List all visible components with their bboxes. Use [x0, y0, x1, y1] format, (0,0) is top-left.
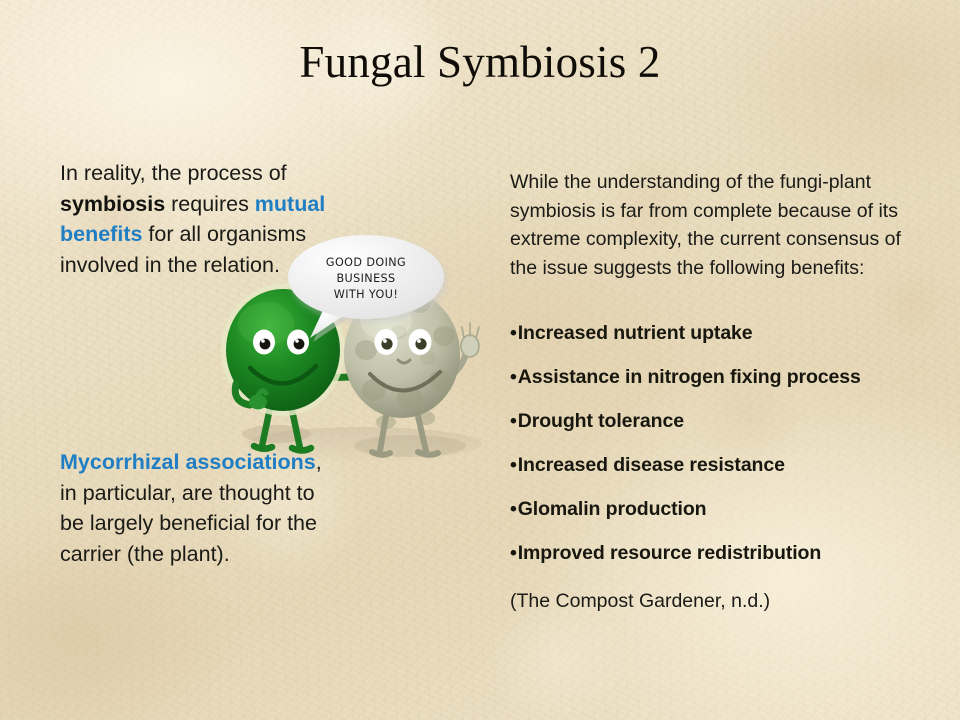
waving-hand-icon — [461, 323, 479, 357]
ground-shadow — [242, 425, 482, 461]
list-item-label: Drought tolerance — [518, 410, 684, 432]
left-paragraph-part1: In reality, the process of — [60, 161, 287, 185]
list-item: •Increased disease resistance — [510, 454, 940, 477]
list-item: •Drought tolerance — [510, 410, 940, 433]
bullet-icon: • — [510, 498, 517, 520]
bullet-icon: • — [510, 454, 517, 476]
bullet-icon: • — [510, 322, 517, 344]
list-item: •Improved resource redistribution — [510, 542, 940, 565]
list-item-label: Improved resource redistribution — [518, 542, 821, 564]
citation-text: (The Compost Gardener, n.d.) — [510, 588, 770, 616]
list-item-label: Increased disease resistance — [518, 454, 785, 476]
bullet-icon: • — [510, 366, 517, 388]
speech-bubble-line-3: WITH YOU! — [334, 288, 398, 301]
left-paragraph-bold-symbiosis: symbiosis — [60, 192, 165, 216]
slide-canvas: Fungal Symbiosis 2 In reality, the proce… — [0, 0, 960, 720]
bullet-icon: • — [510, 542, 517, 564]
list-item-label: Glomalin production — [518, 498, 707, 520]
list-item: •Glomalin production — [510, 498, 940, 521]
benefits-list: •Increased nutrient uptake •Assistance i… — [510, 322, 940, 586]
list-item-label: Increased nutrient uptake — [518, 322, 753, 344]
speech-bubble-line-2: BUSINESS — [336, 272, 395, 285]
list-item: •Increased nutrient uptake — [510, 322, 940, 345]
right-paragraph: While the understanding of the fungi-pla… — [510, 168, 908, 283]
algae-and-fungus-illustration: GOOD DOING BUSINESS WITH YOU! — [214, 232, 496, 488]
speech-bubble-line-1: GOOD DOING — [326, 256, 406, 269]
bullet-icon: • — [510, 410, 517, 432]
list-item-label: Assistance in nitrogen fixing process — [518, 366, 861, 388]
left-paragraph-part2: requires — [165, 192, 255, 216]
page-title: Fungal Symbiosis 2 — [0, 38, 960, 88]
list-item: •Assistance in nitrogen fixing process — [510, 366, 940, 389]
